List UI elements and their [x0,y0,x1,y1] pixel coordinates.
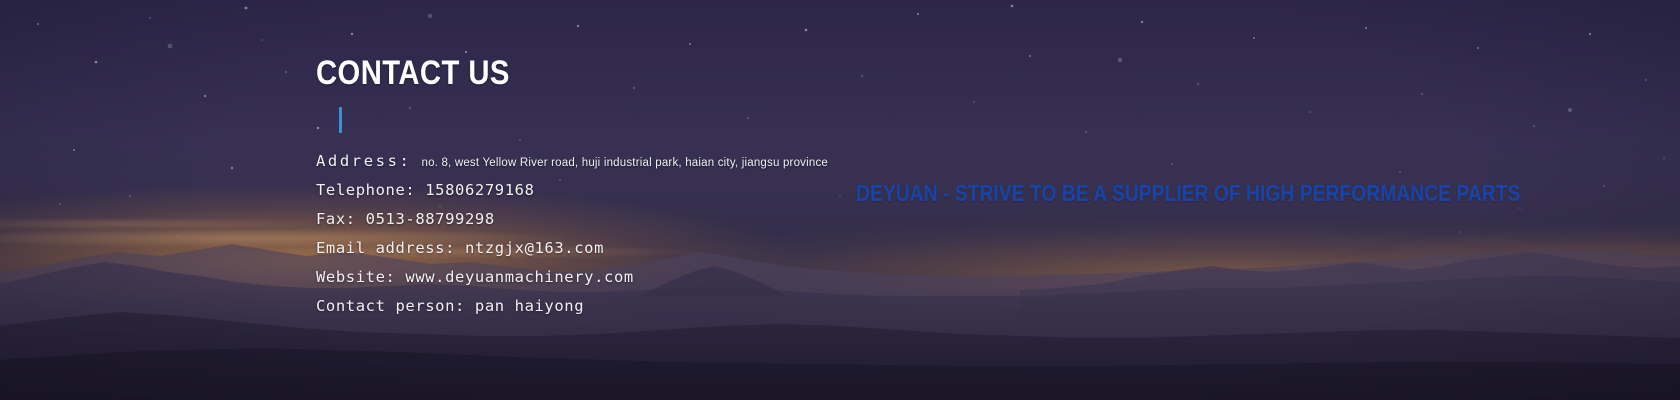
company-tagline: DEYUAN - STRIVE TO BE A SUPPLIER OF HIGH… [856,182,1520,205]
email-text[interactable]: Email address: ntzgjx@163.com [316,239,604,257]
contact-us-section: CONTACT US Address: no. 8, west Yellow R… [0,0,1680,400]
fax-text: Fax: 0513-88799298 [316,210,495,228]
website-text[interactable]: Website: www.deyuanmachinery.com [316,268,634,286]
contact-detail-email: Email address: ntzgjx@163.com [316,239,956,268]
section-content: CONTACT US Address: no. 8, west Yellow R… [0,0,1680,400]
title-accent-bar [339,107,342,133]
contact-person-text: Contact person: pan haiyong [316,297,584,315]
contact-detail-fax: Fax: 0513-88799298 [316,210,956,239]
address-value: no. 8, west Yellow River road, huji indu… [421,157,828,169]
contact-detail-contact-person: Contact person: pan haiyong [316,297,956,326]
telephone-text: Telephone: 15806279168 [316,181,535,199]
address-label: Address: [316,152,411,170]
page-title: CONTACT US [316,56,866,90]
contact-details-list: Address: no. 8, west Yellow River road, … [316,152,956,326]
contact-detail-website: Website: www.deyuanmachinery.com [316,268,956,297]
contact-detail-address: Address: no. 8, west Yellow River road, … [316,152,956,181]
